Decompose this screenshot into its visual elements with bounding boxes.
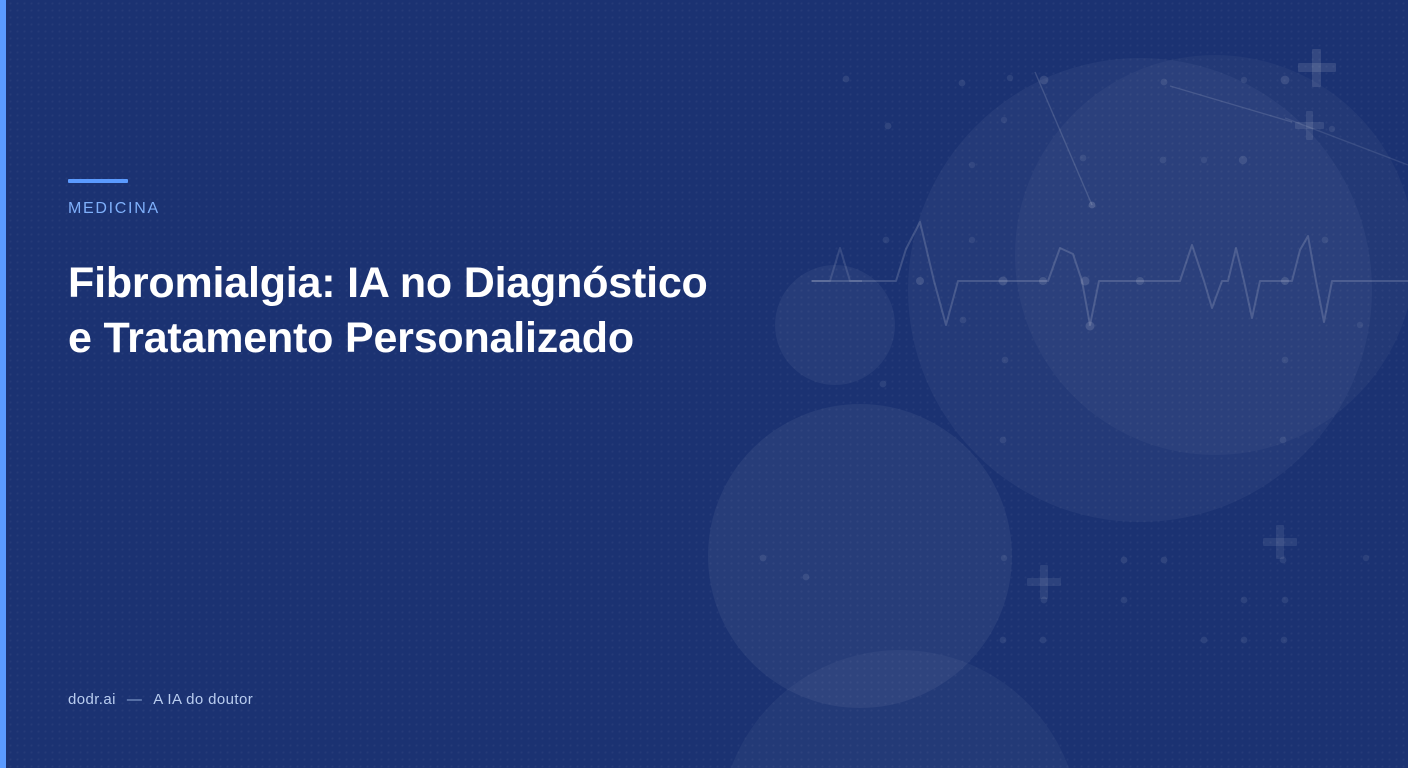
category-kicker: MEDICINA	[68, 200, 160, 218]
decor-node-dot	[916, 277, 924, 285]
footer-branding: dodr.ai — A IA do doutor	[68, 691, 253, 708]
decor-node-dot	[999, 277, 1008, 286]
decor-node-dot	[1081, 277, 1090, 286]
decor-line-endpoint-1	[1089, 202, 1096, 209]
ecg-heartbeat-line	[812, 222, 1408, 325]
kicker-accent-rule	[68, 179, 128, 183]
brand-tagline: A IA do doutor	[153, 691, 253, 708]
decor-dot-field	[760, 75, 1370, 644]
page-title-line-2: e Tratamento Personalizado	[68, 311, 788, 366]
decor-node-dot	[1281, 277, 1289, 285]
decor-node-dot	[1136, 277, 1144, 285]
decor-diagonal-line-1	[1035, 72, 1092, 205]
page-title-line-1: Fibromialgia: IA no Diagnóstico	[68, 256, 788, 311]
medical-cross-icon-4	[1027, 565, 1061, 599]
decor-circle-right-overlap	[1015, 55, 1408, 455]
decor-circle-large-right	[908, 58, 1372, 522]
decor-diagonal-line-3	[1285, 118, 1408, 165]
title-slide: MEDICINA Fibromialgia: IA no Diagnóstico…	[0, 0, 1408, 768]
brand-name: dodr.ai	[68, 691, 116, 708]
medical-cross-icon-3	[1263, 525, 1297, 559]
left-accent-bar	[0, 0, 6, 768]
footer-separator: —	[127, 691, 142, 708]
medical-cross-icon-2	[1295, 111, 1324, 140]
decor-node-dot	[1039, 277, 1047, 285]
slide-content: MEDICINA Fibromialgia: IA no Diagnóstico…	[68, 0, 828, 768]
medical-cross-icon-1	[1298, 49, 1336, 87]
decor-node-dot	[1086, 322, 1095, 331]
decor-diagonal-line-2	[1170, 86, 1292, 122]
page-title: Fibromialgia: IA no Diagnóstico e Tratam…	[68, 256, 788, 366]
